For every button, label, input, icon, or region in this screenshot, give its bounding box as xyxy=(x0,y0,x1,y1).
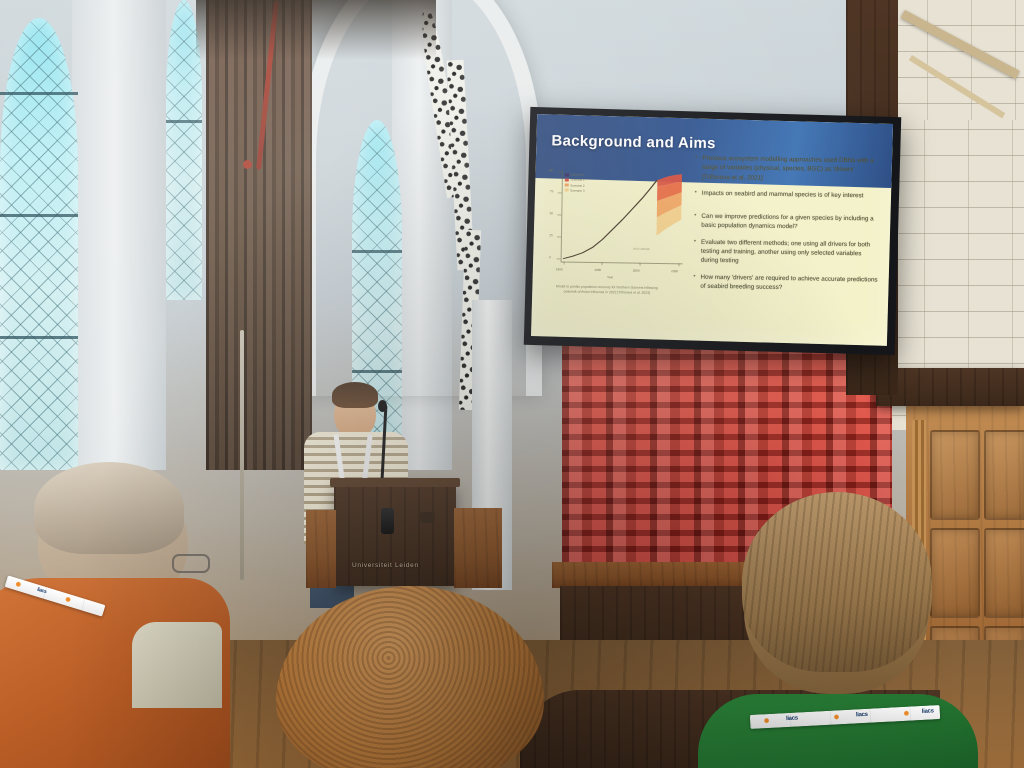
chart-y-ticklabel: 25 xyxy=(549,234,553,238)
chart-x-tick xyxy=(678,264,679,268)
audience-member-right: liacs liacs liacs xyxy=(714,498,964,768)
curtain-cord-tassel xyxy=(243,160,252,169)
chart-x-tick xyxy=(563,262,564,266)
bullet-text: Evaluate two different methods; one usin… xyxy=(701,238,879,269)
bullet-text: Impacts on seabird and mammal species is… xyxy=(702,189,864,201)
cornice-right xyxy=(876,368,1024,406)
bullet-marker: • xyxy=(693,273,695,292)
chart-legend: Observed Scenario 1 Scenario 2 Scenario … xyxy=(564,173,585,194)
bullet-marker: • xyxy=(694,238,697,266)
chart-x-ticklabel: 2050 xyxy=(671,270,678,274)
slide-bullet: •Can we improve predictions for a given … xyxy=(694,212,879,233)
legend-label: Scenario 3 xyxy=(570,189,584,193)
audience-member-center xyxy=(276,586,546,768)
legend-swatch xyxy=(564,174,568,177)
population-recovery-chart: 0 25 50 75 100 1900 1950 2000 2050 Year xyxy=(544,161,688,286)
audience-center-head xyxy=(276,586,544,768)
legend-label: Scenario 2 xyxy=(570,184,584,188)
audience-left-collar xyxy=(132,622,222,708)
chart-x-axis-label: Year xyxy=(607,276,613,280)
legend-label: Scenario 1 xyxy=(570,179,584,183)
bullet-marker: • xyxy=(695,189,697,198)
chart-x-ticklabel: 2000 xyxy=(632,269,639,273)
chart-y-ticklabel: 100 xyxy=(548,169,553,173)
tiled-wall-upper-right xyxy=(905,0,1024,120)
bullet-marker: • xyxy=(694,212,696,231)
audience-member-left: liacs xyxy=(0,466,260,768)
lectern-side-left xyxy=(306,510,336,588)
lectern-water-bottle xyxy=(381,508,394,534)
legend-swatch xyxy=(564,184,568,187)
bullet-text: Can we improve predictions for a given s… xyxy=(701,212,879,233)
chart-y-ticklabel: 75 xyxy=(550,190,554,194)
legend-item: Scenario 2 xyxy=(564,184,584,188)
chart-x-ticklabel: 1900 xyxy=(555,268,562,272)
wood-panel xyxy=(984,430,1024,520)
slide-bullet-list: •Previous ecosystem modelling approaches… xyxy=(693,154,880,301)
chart-x-ticklabel: 1950 xyxy=(594,268,601,272)
chart-x-tick xyxy=(601,262,602,266)
chart-caption: Model to predict population recovery for… xyxy=(549,285,663,297)
slide-bullet: •Previous ecosystem modelling approaches… xyxy=(695,154,881,185)
bullet-text: How many 'drivers' are required to achie… xyxy=(700,273,878,294)
lectern-device xyxy=(420,512,435,523)
microphone-head xyxy=(378,400,387,412)
wood-panel xyxy=(984,528,1024,618)
legend-item: Observed xyxy=(564,173,584,177)
legend-item: Scenario 1 xyxy=(564,178,584,182)
slide-bullet: •Impacts on seabird and mammal species i… xyxy=(695,189,880,201)
bullet-marker: • xyxy=(695,154,698,182)
audience-left-hair xyxy=(34,462,184,554)
chart-x-tick xyxy=(640,263,641,267)
presentation-photo: Universiteit Leiden Background and Aims xyxy=(0,0,1024,768)
lectern-side-right xyxy=(454,508,502,588)
slide-body: 0 25 50 75 100 1900 1950 2000 2050 Year xyxy=(531,178,891,345)
legend-item: Scenario 3 xyxy=(564,189,584,193)
presentation-slide: Background and Aims 0 25 50 75 xyxy=(531,114,893,346)
chart-y-ticklabel: 50 xyxy=(549,212,553,216)
slide-title: Background and Aims xyxy=(551,132,716,152)
projection-screen: Background and Aims 0 25 50 75 xyxy=(524,107,902,355)
lectern-venue-label: Universiteit Leiden xyxy=(352,562,419,569)
legend-label: Observed xyxy=(570,173,583,177)
lectern-top-bevel xyxy=(330,478,460,487)
lectern xyxy=(334,482,456,586)
legend-swatch xyxy=(564,179,568,182)
speaker-hair xyxy=(332,382,378,408)
stained-glass-window-left xyxy=(0,18,78,470)
slide-bullet: •How many 'drivers' are required to achi… xyxy=(693,273,878,294)
legend-swatch xyxy=(564,189,568,192)
bullet-text: Previous ecosystem modelling approaches … xyxy=(702,154,880,185)
ceiling-shadow xyxy=(196,0,436,60)
audience-left-glasses xyxy=(172,554,210,573)
audience-right-hair xyxy=(742,492,932,672)
slide-bullet: •Evaluate two different methods; one usi… xyxy=(694,238,880,269)
wall-pillar-left xyxy=(72,0,166,470)
chart-y-ticklabel: 0 xyxy=(549,256,551,260)
